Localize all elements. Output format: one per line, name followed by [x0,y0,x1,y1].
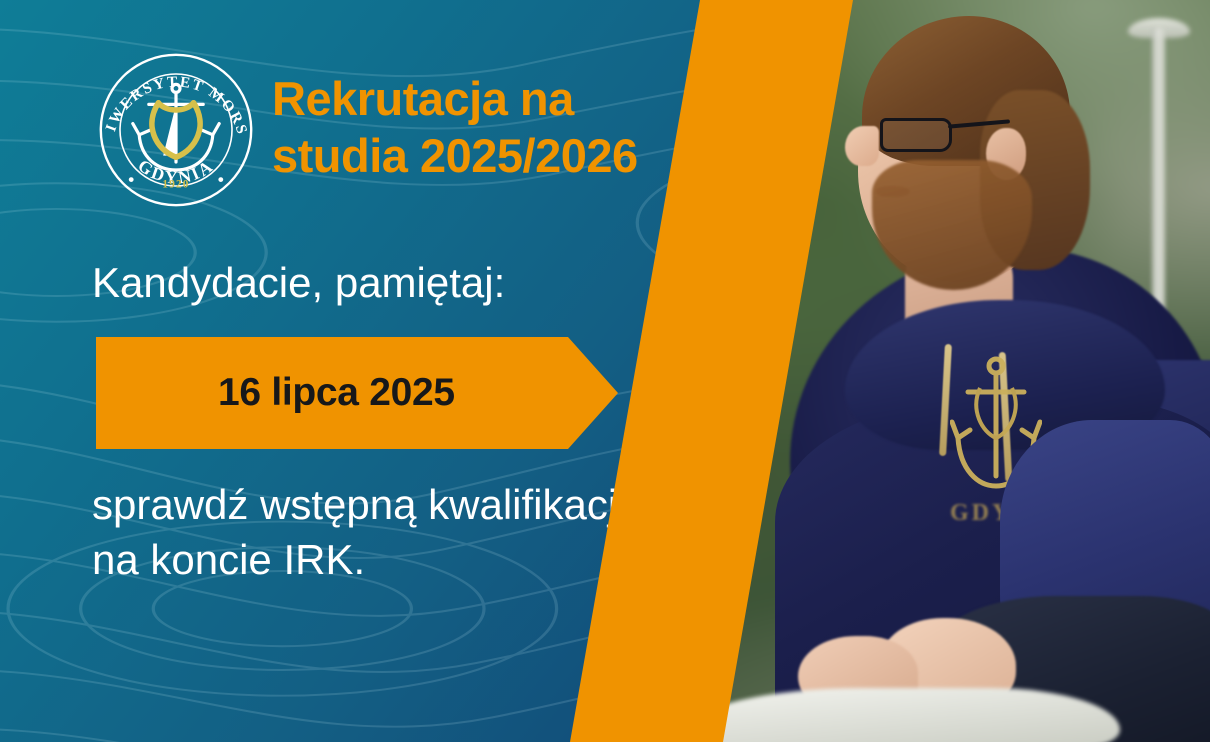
recruitment-banner: GDYNIA [0,0,1210,742]
instruction-line-1: sprawdź wstępną kwalifikację [92,478,692,533]
university-logo: UNIWERSYTET MORSKI GDYNIA [96,42,256,218]
nose [845,126,879,166]
page-title: Rekrutacja na studia 2025/2026 [272,70,702,185]
glasses-icon [880,118,952,152]
deadline-date: 16 lipca 2025 [218,371,455,415]
kicker-text: Kandydacie, pamiętaj: [92,258,505,308]
headline-line-2: studia 2025/2026 [272,127,702,184]
shoe [690,688,1120,742]
headline-line-1: Rekrutacja na [272,70,702,127]
date-arrow-banner: 16 lipca 2025 [96,337,618,449]
svg-text:1920: 1920 [162,179,189,191]
